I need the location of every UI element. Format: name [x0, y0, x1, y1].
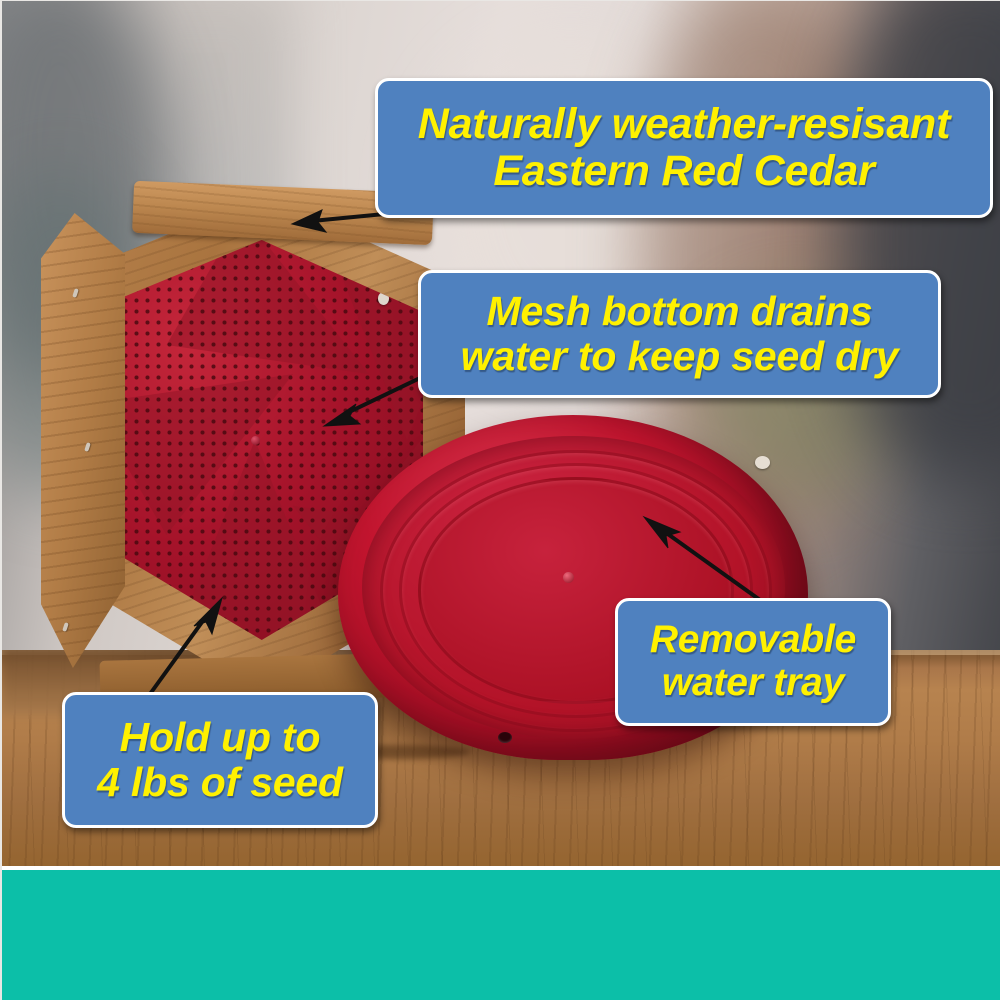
brand-footer: PENNINGTON ® CEDAR Feeder and Bird Bath	[0, 870, 1000, 1000]
callout-mesh-line2: water to keep seed dry	[461, 334, 899, 379]
side-board-grain	[41, 213, 125, 668]
callout-mesh[interactable]: Mesh bottom drains water to keep seed dr…	[418, 270, 941, 398]
product-photo: Naturally weather-resisant Eastern Red C…	[0, 0, 1000, 870]
callout-tray[interactable]: Removable water tray	[615, 598, 891, 726]
mesh-center-rivet	[251, 436, 260, 445]
callout-cedar-line1: Naturally weather-resisant	[418, 101, 951, 148]
callout-seed-line2: 4 lbs of seed	[97, 760, 343, 805]
callout-cedar-line2: Eastern Red Cedar	[493, 148, 874, 195]
callout-seed[interactable]: Hold up to 4 lbs of seed	[62, 692, 378, 828]
tray-rim-hole	[755, 456, 770, 469]
callout-tray-line2: water tray	[662, 662, 844, 705]
callout-cedar[interactable]: Naturally weather-resisant Eastern Red C…	[375, 78, 993, 218]
tray-drain-hole	[498, 732, 512, 743]
callout-seed-line1: Hold up to	[120, 715, 321, 760]
callout-tray-line1: Removable	[650, 619, 856, 662]
feeder-side-board	[41, 213, 125, 668]
product-infographic: Naturally weather-resisant Eastern Red C…	[0, 0, 1000, 1000]
callout-mesh-line1: Mesh bottom drains	[487, 289, 873, 334]
